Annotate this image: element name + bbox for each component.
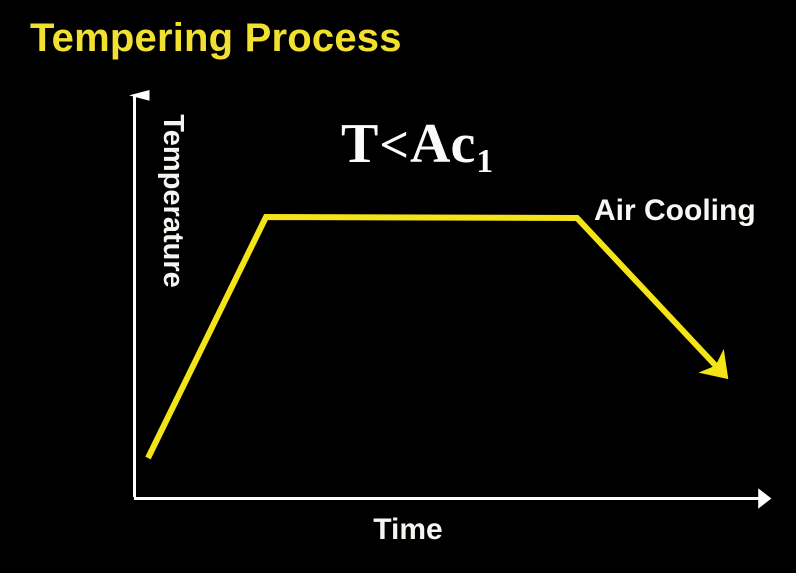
temperature-condition-annotation: T<Ac1 <box>341 112 492 184</box>
x-axis-label: Time <box>343 512 473 548</box>
plot-area <box>0 0 796 573</box>
condition-subscript: 1 <box>476 143 493 180</box>
condition-base: T <box>341 113 378 175</box>
y-axis-label: Temperature <box>158 86 188 316</box>
air-cooling-annotation: Air Cooling <box>594 193 756 229</box>
tempering-process-diagram: Tempering Process Temperature Time T<Ac1… <box>0 0 796 573</box>
condition-operator: < <box>378 117 410 174</box>
tempering-curve <box>148 217 716 458</box>
condition-variable: Ac <box>410 113 475 175</box>
